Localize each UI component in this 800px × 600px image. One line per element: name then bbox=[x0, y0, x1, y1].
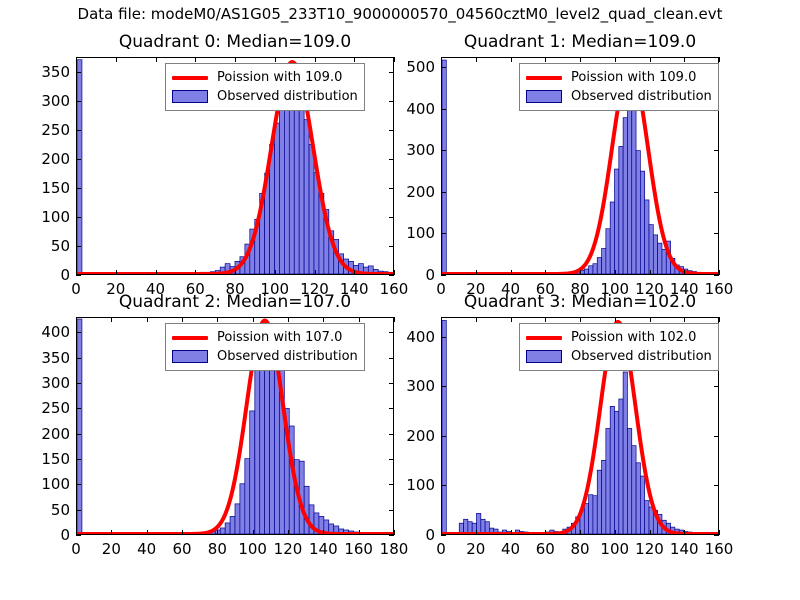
subplot-quadrant-2: Quadrant 2: Median=107.00501001502002503… bbox=[76, 317, 394, 535]
y-tick-label: 300 bbox=[41, 92, 70, 110]
x-tickmark-top bbox=[684, 57, 685, 62]
y-tickmark-right bbox=[389, 159, 394, 160]
legend-0: Poission with 109.0Observed distribution bbox=[165, 63, 365, 111]
legend-entry-observed: Observed distribution bbox=[526, 347, 712, 366]
x-tickmark-top bbox=[217, 317, 218, 322]
y-tick-label: 250 bbox=[41, 399, 70, 417]
y-tick-label: 50 bbox=[51, 501, 70, 519]
x-tick-label: 40 bbox=[501, 540, 520, 558]
legend-label: Observed distribution bbox=[571, 349, 712, 364]
y-tickmark bbox=[76, 275, 81, 276]
y-tickmark bbox=[441, 192, 446, 193]
histogram-bar bbox=[645, 501, 649, 534]
x-tickmark-top bbox=[315, 57, 316, 62]
histogram-bar bbox=[255, 368, 260, 534]
x-tickmark-top bbox=[580, 57, 581, 62]
x-tickmark bbox=[76, 270, 77, 275]
x-tick-label: 0 bbox=[71, 540, 81, 558]
y-tickmark-right bbox=[389, 408, 394, 409]
legend-entry-poisson: Poission with 107.0 bbox=[172, 328, 358, 347]
x-tick-label: 160 bbox=[705, 540, 734, 558]
histogram-bar bbox=[279, 107, 284, 274]
x-tickmark-top bbox=[111, 317, 112, 322]
x-tickmark-top bbox=[511, 57, 512, 62]
x-tickmark bbox=[580, 530, 581, 535]
legend-patch-swatch-icon bbox=[172, 350, 208, 363]
histogram-bar bbox=[442, 60, 446, 274]
y-tick-label: 200 bbox=[406, 183, 435, 201]
x-tickmark bbox=[394, 270, 395, 275]
y-tickmark bbox=[76, 101, 81, 102]
subplot-title-3: Quadrant 3: Median=102.0 bbox=[441, 292, 719, 312]
y-tickmark-right bbox=[389, 332, 394, 333]
x-tickmark bbox=[441, 530, 442, 535]
y-tick-label: 150 bbox=[41, 179, 70, 197]
y-tick-label: 400 bbox=[41, 323, 70, 341]
legend-entry-poisson: Poission with 102.0 bbox=[526, 328, 712, 347]
x-tickmark bbox=[719, 530, 720, 535]
y-tick-label: 150 bbox=[41, 450, 70, 468]
y-tick-label: 200 bbox=[406, 427, 435, 445]
histogram-bar bbox=[284, 104, 289, 274]
x-tickmark bbox=[441, 270, 442, 275]
y-tickmark-right bbox=[714, 386, 719, 387]
x-tickmark-top bbox=[441, 57, 442, 62]
legend-patch-swatch-icon bbox=[526, 90, 562, 103]
histogram-bar bbox=[230, 516, 235, 534]
y-tick-label: 300 bbox=[41, 374, 70, 392]
histogram-bar bbox=[589, 266, 593, 274]
x-tickmark-top bbox=[650, 57, 651, 62]
legend-label: Poission with 109.0 bbox=[217, 70, 342, 85]
histogram-bar bbox=[77, 60, 82, 274]
histogram-bar bbox=[235, 504, 240, 534]
y-tickmark-right bbox=[389, 130, 394, 131]
x-tickmark bbox=[147, 530, 148, 535]
y-tickmark bbox=[76, 535, 81, 536]
y-tickmark bbox=[76, 130, 81, 131]
x-tickmark-top bbox=[195, 57, 196, 62]
x-tickmark-top bbox=[288, 317, 289, 322]
histogram-bar bbox=[250, 411, 255, 534]
x-tick-label: 100 bbox=[238, 540, 267, 558]
histogram-bar bbox=[662, 249, 666, 274]
legend-line-swatch-icon bbox=[172, 76, 208, 80]
x-tickmark-top bbox=[147, 317, 148, 322]
x-tick-label: 100 bbox=[600, 540, 629, 558]
histogram-bar bbox=[653, 235, 657, 274]
y-tickmark bbox=[76, 358, 81, 359]
matplotlib-figure: Data file: modeM0/AS1G05_233T10_90000005… bbox=[0, 0, 800, 600]
x-tickmark bbox=[650, 270, 651, 275]
y-tickmark-right bbox=[389, 188, 394, 189]
x-tickmark bbox=[76, 530, 77, 535]
legend-patch-swatch-icon bbox=[526, 350, 562, 363]
y-tickmark-right bbox=[389, 246, 394, 247]
legend-entry-poisson: Poission with 109.0 bbox=[172, 68, 358, 87]
histogram-bar bbox=[593, 264, 597, 274]
x-tickmark-top bbox=[615, 57, 616, 62]
x-tickmark-top bbox=[253, 317, 254, 322]
y-tickmark-right bbox=[714, 233, 719, 234]
x-tick-label: 80 bbox=[208, 540, 227, 558]
y-tick-label: 400 bbox=[406, 100, 435, 118]
x-tick-label: 120 bbox=[274, 540, 303, 558]
y-tickmark-right bbox=[389, 510, 394, 511]
x-tickmark-top bbox=[182, 317, 183, 322]
x-tick-label: 140 bbox=[309, 540, 338, 558]
histogram-bar bbox=[593, 496, 597, 534]
histogram-bar bbox=[606, 428, 610, 534]
y-tick-label: 100 bbox=[41, 208, 70, 226]
histogram-bar bbox=[481, 519, 485, 534]
y-tickmark bbox=[441, 67, 446, 68]
y-tickmark-right bbox=[389, 434, 394, 435]
y-tick-label: 250 bbox=[41, 121, 70, 139]
x-tickmark bbox=[650, 530, 651, 535]
x-tickmark bbox=[182, 530, 183, 535]
histogram-bar bbox=[649, 225, 653, 274]
x-tickmark bbox=[217, 530, 218, 535]
histogram-bar bbox=[619, 146, 623, 274]
y-tickmark-right bbox=[389, 484, 394, 485]
x-tickmark-top bbox=[235, 57, 236, 62]
subplot-title-2: Quadrant 2: Median=107.0 bbox=[76, 292, 394, 312]
subplot-title-1: Quadrant 1: Median=109.0 bbox=[441, 32, 719, 52]
x-tickmark-top bbox=[394, 317, 395, 322]
legend-label: Observed distribution bbox=[571, 89, 712, 104]
histogram-bar bbox=[245, 459, 250, 534]
y-tickmark bbox=[76, 459, 81, 460]
y-tick-label: 300 bbox=[406, 377, 435, 395]
y-tickmark bbox=[76, 332, 81, 333]
histogram-bar bbox=[260, 343, 265, 534]
y-tick-label: 0 bbox=[60, 266, 70, 284]
histogram-bar bbox=[606, 229, 610, 274]
y-tickmark bbox=[76, 434, 81, 435]
x-tickmark bbox=[354, 270, 355, 275]
legend-label: Poission with 107.0 bbox=[217, 330, 342, 345]
x-tickmark bbox=[275, 270, 276, 275]
histogram-bar bbox=[584, 504, 588, 534]
y-tickmark bbox=[441, 386, 446, 387]
y-tickmark-right bbox=[714, 535, 719, 536]
x-tickmark bbox=[195, 270, 196, 275]
x-tickmark bbox=[156, 270, 157, 275]
y-tick-label: 50 bbox=[51, 237, 70, 255]
y-tickmark bbox=[76, 408, 81, 409]
x-tick-label: 40 bbox=[137, 540, 156, 558]
histogram-bar bbox=[225, 523, 230, 534]
y-tickmark bbox=[441, 337, 446, 338]
x-tickmark-top bbox=[580, 317, 581, 322]
histogram-bar bbox=[240, 484, 245, 534]
x-tickmark bbox=[235, 270, 236, 275]
y-tickmark-right bbox=[389, 459, 394, 460]
y-tick-label: 400 bbox=[406, 328, 435, 346]
x-tickmark-top bbox=[76, 317, 77, 322]
histogram-bar bbox=[658, 243, 662, 274]
histogram-bar bbox=[636, 463, 640, 534]
y-tickmark-right bbox=[389, 72, 394, 73]
x-tickmark-top bbox=[275, 57, 276, 62]
legend-label: Observed distribution bbox=[217, 349, 358, 364]
x-tickmark-top bbox=[354, 57, 355, 62]
y-tickmark bbox=[441, 436, 446, 437]
y-tickmark-right bbox=[714, 436, 719, 437]
histogram-bar bbox=[220, 528, 225, 534]
x-tickmark bbox=[615, 270, 616, 275]
legend-label: Poission with 102.0 bbox=[571, 330, 696, 345]
y-tickmark-right bbox=[389, 535, 394, 536]
legend-line-swatch-icon bbox=[172, 336, 208, 340]
x-tickmark bbox=[359, 530, 360, 535]
y-tickmark bbox=[76, 510, 81, 511]
histogram-bar bbox=[584, 269, 588, 274]
x-tickmark-top bbox=[116, 57, 117, 62]
subplot-quadrant-0: Quadrant 0: Median=109.00501001502002503… bbox=[76, 57, 394, 275]
x-tickmark-top bbox=[76, 57, 77, 62]
legend-line-swatch-icon bbox=[526, 76, 562, 80]
legend-label: Poission with 109.0 bbox=[571, 70, 696, 85]
y-tick-label: 0 bbox=[425, 526, 435, 544]
x-tick-label: 80 bbox=[570, 540, 589, 558]
subplot-quadrant-3: Quadrant 3: Median=102.00100200300400020… bbox=[441, 317, 719, 535]
y-tick-label: 200 bbox=[41, 425, 70, 443]
x-tickmark bbox=[394, 530, 395, 535]
y-tick-label: 500 bbox=[406, 58, 435, 76]
histogram-bar bbox=[597, 258, 601, 274]
subplot-title-0: Quadrant 0: Median=109.0 bbox=[76, 32, 394, 52]
histogram-bar bbox=[632, 446, 636, 534]
legend-line-swatch-icon bbox=[526, 336, 562, 340]
histogram-bar bbox=[636, 151, 640, 274]
y-tickmark-right bbox=[389, 217, 394, 218]
y-tickmark bbox=[76, 217, 81, 218]
x-tickmark bbox=[323, 530, 324, 535]
legend-3: Poission with 102.0Observed distribution bbox=[519, 323, 719, 371]
y-tickmark-right bbox=[389, 358, 394, 359]
histogram-bar bbox=[645, 200, 649, 274]
x-tickmark bbox=[684, 530, 685, 535]
y-tickmark bbox=[441, 150, 446, 151]
x-tickmark bbox=[511, 270, 512, 275]
y-tickmark-right bbox=[389, 383, 394, 384]
legend-entry-observed: Observed distribution bbox=[172, 87, 358, 106]
histogram-bar bbox=[294, 84, 299, 274]
legend-2: Poission with 107.0Observed distribution bbox=[165, 323, 365, 371]
x-tick-label: 120 bbox=[635, 540, 664, 558]
histogram-bar bbox=[77, 319, 82, 534]
x-tick-label: 60 bbox=[172, 540, 191, 558]
y-tickmark bbox=[441, 485, 446, 486]
x-tick-label: 20 bbox=[102, 540, 121, 558]
x-tickmark bbox=[476, 530, 477, 535]
y-tickmark-right bbox=[714, 485, 719, 486]
y-tickmark-right bbox=[714, 150, 719, 151]
x-tickmark-top bbox=[511, 317, 512, 322]
y-tickmark-right bbox=[714, 192, 719, 193]
y-tickmark bbox=[441, 109, 446, 110]
x-tickmark bbox=[615, 530, 616, 535]
y-tick-label: 350 bbox=[41, 63, 70, 81]
x-tick-label: 20 bbox=[466, 540, 485, 558]
histogram-bar bbox=[304, 120, 309, 274]
y-tickmark-right bbox=[389, 101, 394, 102]
x-tickmark bbox=[288, 530, 289, 535]
x-tickmark bbox=[476, 270, 477, 275]
histogram-bar bbox=[619, 399, 623, 534]
x-tickmark-top bbox=[650, 317, 651, 322]
x-tick-label: 140 bbox=[670, 540, 699, 558]
legend-entry-observed: Observed distribution bbox=[172, 347, 358, 366]
x-tickmark bbox=[719, 270, 720, 275]
histogram-bar bbox=[309, 144, 314, 274]
y-tick-label: 100 bbox=[406, 224, 435, 242]
histogram-bar bbox=[615, 411, 619, 534]
legend-entry-poisson: Poission with 109.0 bbox=[526, 68, 712, 87]
y-tickmark-right bbox=[714, 275, 719, 276]
x-tickmark-top bbox=[441, 317, 442, 322]
x-tickmark bbox=[511, 530, 512, 535]
y-tickmark bbox=[76, 159, 81, 160]
histogram-bar bbox=[610, 202, 614, 274]
histogram-bar bbox=[627, 97, 631, 274]
x-tickmark bbox=[111, 530, 112, 535]
x-tickmark-top bbox=[156, 57, 157, 62]
histogram-bar bbox=[589, 495, 593, 534]
x-tickmark bbox=[116, 270, 117, 275]
x-tickmark-top bbox=[545, 317, 546, 322]
legend-1: Poission with 109.0Observed distribution bbox=[519, 63, 719, 111]
histogram-bar bbox=[623, 372, 627, 534]
histogram-bar bbox=[640, 171, 644, 274]
histogram-bar bbox=[615, 169, 619, 274]
x-tick-label: 0 bbox=[436, 540, 446, 558]
x-tickmark-top bbox=[476, 317, 477, 322]
histogram-bar bbox=[602, 248, 606, 274]
histogram-bar bbox=[623, 118, 627, 274]
legend-entry-observed: Observed distribution bbox=[526, 87, 712, 106]
y-tick-label: 100 bbox=[41, 475, 70, 493]
x-tickmark-top bbox=[359, 317, 360, 322]
x-tickmark bbox=[580, 270, 581, 275]
x-tickmark bbox=[545, 530, 546, 535]
x-tickmark-top bbox=[394, 57, 395, 62]
histogram-bar bbox=[464, 519, 468, 534]
x-tickmark-top bbox=[719, 57, 720, 62]
y-tickmark bbox=[76, 383, 81, 384]
histogram-bar bbox=[289, 95, 294, 274]
subplot-quadrant-1: Quadrant 1: Median=109.00100200300400500… bbox=[441, 57, 719, 275]
x-tick-label: 180 bbox=[380, 540, 409, 558]
x-tickmark-top bbox=[323, 317, 324, 322]
legend-patch-swatch-icon bbox=[172, 90, 208, 103]
y-tickmark bbox=[441, 233, 446, 234]
x-tickmark-top bbox=[545, 57, 546, 62]
histogram-bar bbox=[627, 428, 631, 534]
x-tickmark bbox=[684, 270, 685, 275]
histogram-bar bbox=[640, 476, 644, 534]
y-tickmark-right bbox=[389, 275, 394, 276]
y-tick-label: 100 bbox=[406, 476, 435, 494]
histogram-bar bbox=[597, 470, 601, 534]
y-tickmark bbox=[76, 72, 81, 73]
y-tick-label: 350 bbox=[41, 349, 70, 367]
histogram-bar bbox=[442, 320, 446, 534]
x-tick-label: 160 bbox=[344, 540, 373, 558]
x-tick-label: 60 bbox=[536, 540, 555, 558]
histogram-bar bbox=[477, 513, 481, 534]
y-tickmark bbox=[76, 246, 81, 247]
histogram-bar bbox=[299, 94, 304, 274]
y-tickmark bbox=[76, 188, 81, 189]
y-tick-label: 200 bbox=[41, 150, 70, 168]
legend-label: Observed distribution bbox=[217, 89, 358, 104]
x-tickmark-top bbox=[476, 57, 477, 62]
y-tick-label: 0 bbox=[60, 526, 70, 544]
x-tickmark-top bbox=[719, 317, 720, 322]
y-tick-label: 300 bbox=[406, 141, 435, 159]
histogram-bar bbox=[602, 460, 606, 534]
y-tickmark bbox=[76, 484, 81, 485]
figure-suptitle: Data file: modeM0/AS1G05_233T10_90000005… bbox=[0, 5, 800, 23]
histogram-bar bbox=[275, 123, 280, 274]
y-tickmark bbox=[441, 275, 446, 276]
x-tickmark bbox=[253, 530, 254, 535]
y-tick-label: 0 bbox=[425, 266, 435, 284]
x-tickmark bbox=[315, 270, 316, 275]
x-tickmark-top bbox=[684, 317, 685, 322]
y-tickmark bbox=[441, 535, 446, 536]
x-tickmark bbox=[545, 270, 546, 275]
x-tickmark-top bbox=[615, 317, 616, 322]
histogram-bar bbox=[610, 406, 614, 534]
